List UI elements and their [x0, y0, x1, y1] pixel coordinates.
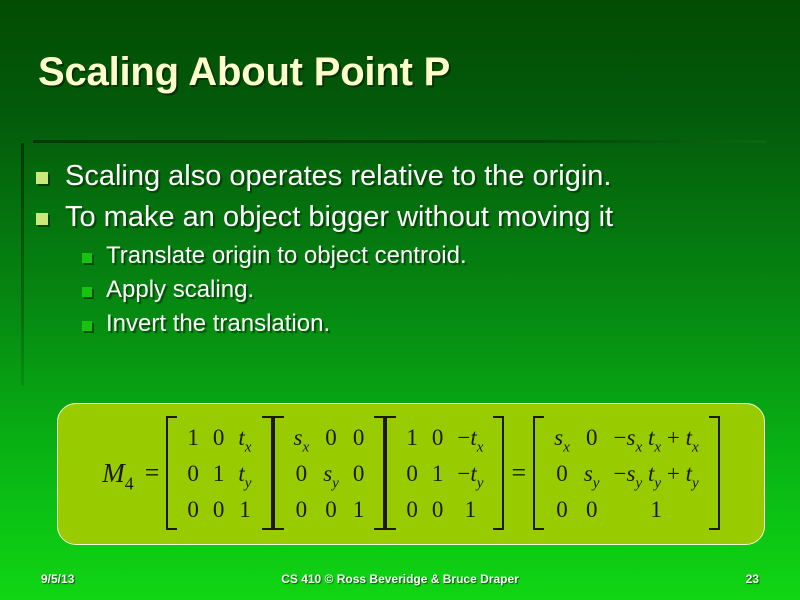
matrix-cell: 0	[425, 498, 451, 521]
matrix-cell: 1	[206, 462, 232, 485]
matrix-cell: tx	[231, 426, 258, 449]
bullet-item-level2: Apply scaling.	[82, 277, 776, 304]
matrix-cell: 0	[579, 426, 605, 449]
bullet-square-icon	[36, 213, 48, 225]
bullet-list: Scaling also operates relative to the or…	[36, 160, 776, 345]
matrix-cell: 1	[232, 498, 258, 521]
bullet-item-level2: Invert the translation.	[82, 311, 776, 338]
matrix-right-bracket	[262, 416, 273, 530]
bullet-square-icon	[36, 172, 48, 184]
bullet-text: Translate origin to object centroid.	[106, 243, 467, 270]
matrix-cell: −sx tx + tx	[607, 426, 706, 449]
matrix-cell: 0	[180, 498, 206, 521]
matrix-grid: 10tx01ty001	[178, 416, 260, 530]
matrix-right-bracket	[493, 416, 504, 530]
matrix-cell: sx	[287, 426, 317, 449]
bullet-item-level1: To make an object bigger without moving …	[36, 201, 776, 233]
matrix-cell: 0	[399, 498, 425, 521]
left-accent-bar	[21, 143, 24, 386]
matrix-right-bracket	[374, 416, 385, 530]
matrix-cell: 1	[180, 426, 206, 449]
matrix-cell: 0	[289, 498, 315, 521]
matrix-cell: 0	[206, 426, 232, 449]
matrix-cell: 0	[399, 462, 425, 485]
bullet-text: Invert the translation.	[106, 311, 330, 338]
matrix-left-bracket	[166, 416, 177, 530]
matrix-cell: 0	[318, 498, 344, 521]
matrix-cell: 1	[458, 498, 484, 521]
bullet-square-icon	[82, 287, 92, 297]
matrix-right-bracket	[709, 416, 720, 530]
bullet-text: Apply scaling.	[106, 277, 254, 304]
equals-sign-second: =	[504, 458, 533, 488]
matrix-cell: 1	[425, 462, 451, 485]
matrix-cell: 0	[346, 426, 372, 449]
matrix-cell: 0	[346, 462, 372, 485]
matrix-left-bracket	[385, 416, 396, 530]
slide-canvas: Scaling About Point P Scaling also opera…	[0, 0, 800, 600]
equation-panel: M4=10tx01ty001sx000sy000110−tx01−ty001=s…	[57, 403, 765, 545]
matrix-cell: −tx	[450, 426, 490, 449]
matrix-equation: M4=10tx01ty001sx000sy000110−tx01−ty001=s…	[102, 416, 719, 530]
matrix-cell: −sy ty + ty	[607, 462, 706, 485]
matrix-left-bracket	[273, 416, 284, 530]
matrix-grid: sx0−sx tx + tx0sy−sy ty + ty001	[545, 416, 708, 530]
inverse-translate-matrix: 10−tx01−ty001	[385, 416, 504, 530]
matrix-cell: sy	[577, 462, 607, 485]
matrix-grid: 10−tx01−ty001	[397, 416, 492, 530]
matrix-cell: sx	[547, 426, 577, 449]
bullet-item-level2: Translate origin to object centroid.	[82, 243, 776, 270]
footer-page-number: 23	[0, 572, 759, 586]
equation-label: M4	[102, 458, 137, 489]
matrix-cell: 0	[206, 498, 232, 521]
matrix-cell: −ty	[450, 462, 490, 485]
matrix-cell: 1	[643, 498, 669, 521]
bullet-square-icon	[82, 321, 92, 331]
matrix-grid: sx000sy0001	[285, 416, 374, 530]
matrix-cell: 1	[346, 498, 372, 521]
equals-sign-first: =	[138, 458, 167, 488]
matrix-cell: 0	[318, 426, 344, 449]
matrix-cell: 0	[549, 498, 575, 521]
slide-title: Scaling About Point P	[38, 50, 758, 95]
matrix-cell: 0	[425, 426, 451, 449]
matrix-cell: 0	[289, 462, 315, 485]
title-separator-rule	[33, 140, 766, 143]
matrix-cell: 0	[180, 462, 206, 485]
matrix-cell: ty	[231, 462, 258, 485]
scale-matrix: sx000sy0001	[273, 416, 386, 530]
matrix-cell: sy	[316, 462, 346, 485]
bullet-text: To make an object bigger without moving …	[65, 201, 613, 233]
matrix-cell: 0	[549, 462, 575, 485]
matrix-cell: 1	[399, 426, 425, 449]
translate-matrix: 10tx01ty001	[166, 416, 272, 530]
matrix-left-bracket	[533, 416, 544, 530]
bullet-text: Scaling also operates relative to the or…	[65, 160, 611, 192]
result-matrix: sx0−sx tx + tx0sy−sy ty + ty001	[533, 416, 720, 530]
bullet-square-icon	[82, 253, 92, 263]
matrix-cell: 0	[579, 498, 605, 521]
bullet-item-level1: Scaling also operates relative to the or…	[36, 160, 776, 192]
